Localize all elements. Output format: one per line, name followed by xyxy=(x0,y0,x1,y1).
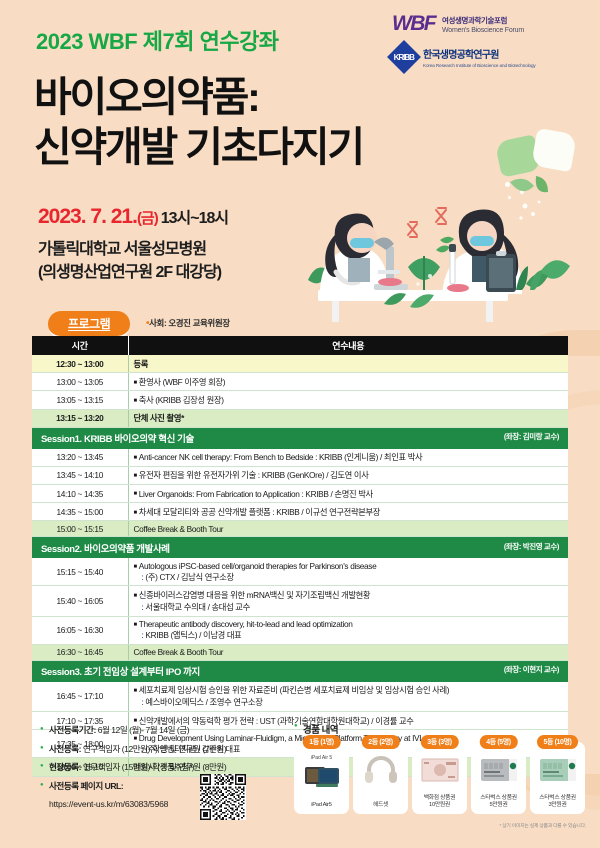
schedule-time: 13:20 ~ 13:45 xyxy=(32,449,128,467)
kribb-diamond-icon: KRIBB xyxy=(387,40,421,74)
column-header-content: 연수내용 xyxy=(128,336,568,355)
prize-rank-badge: 1등 (1명) xyxy=(302,735,340,749)
bullet-square-icon: ■ xyxy=(134,622,137,628)
program-badge-label: 프로그램 xyxy=(68,317,110,331)
schedule-title: 차세대 모달리티와 공공 신약개발 플랫폼 : KRIBB / 이규선 연구전략… xyxy=(139,507,380,517)
schedule-title: 축사 (KRIBB 김장성 원장) xyxy=(139,395,224,405)
bullet-square-icon: ■ xyxy=(134,593,137,599)
schedule-content: ■차세대 모달리티와 공공 신약개발 플랫폼 : KRIBB / 이규선 연구전… xyxy=(128,503,568,521)
bullet-square-icon: ■ xyxy=(134,510,137,516)
schedule-time: 13:15 ~ 13:20 xyxy=(32,409,128,427)
prize-top-note: iPad Air 5 xyxy=(311,755,332,761)
table-row: 15:00 ~ 15:15Coffee Break & Booth Tour xyxy=(32,521,568,537)
wbf-wordmark-icon: WBF xyxy=(392,12,435,36)
kribb-logo: KRIBB 한국생명공학연구원 Korea Research Institute… xyxy=(392,45,582,69)
schedule-content: ■세포치료제 임상시험 승인을 위한 자료준비 (파킨슨병 세포치료제 비임상 … xyxy=(128,682,568,712)
prize-card: 2등 (2명)헤드셋 xyxy=(353,742,408,814)
registration-info: 사전등록기간: 6월 12일 (월)- 7월 14일 (금) 사전등록: 연구책… xyxy=(40,725,290,809)
schedule-time: 13:00 ~ 13:05 xyxy=(32,373,128,391)
schedule-content: ■유전자 편집을 위한 유전자가위 기술 : KRIBB (GenKOre) /… xyxy=(128,466,568,484)
bullet-square-icon: ■ xyxy=(134,491,137,497)
poster-root: 2023 WBF 제7회 연수강좌 바이오의약품: 신약개발 기초다지기 WBF… xyxy=(0,0,600,848)
table-row: 16:30 ~ 16:45Coffee Break & Booth Tour xyxy=(32,644,568,660)
schedule-content: ■Therapeutic antibody discovery, hit-to-… xyxy=(128,616,568,644)
schedule-content: ■환영사 (WBF 이주영 회장) xyxy=(128,373,568,391)
session-title: Session3. 초기 전임상 설계부터 IPO 까지 xyxy=(41,667,200,678)
giftcard-icon xyxy=(538,755,578,785)
prize-list: 1등 (1명)iPad Air 5iPad Air52등 (2명)헤드셋3등 (… xyxy=(294,742,585,814)
table-header-row: 시간 연수내용 xyxy=(32,336,568,355)
kribb-mark: KRIBB xyxy=(394,53,414,62)
program-badge: 프로그램 xyxy=(48,311,130,338)
event-date-time: 2023. 7. 21.(금)13시~18시 xyxy=(38,204,228,229)
schedule-content: ■Liver Organoids: From Fabrication to Ap… xyxy=(128,484,568,502)
wbf-name-en: Women's Bioscience Forum xyxy=(442,27,524,34)
schedule-time: 13:05 ~ 13:15 xyxy=(32,391,128,409)
schedule-time: 16:30 ~ 16:45 xyxy=(32,644,128,660)
schedule-title: Liver Organoids: From Fabrication to App… xyxy=(139,489,373,499)
schedule-time: 15:00 ~ 15:15 xyxy=(32,521,128,537)
schedule-title: Coffee Break & Booth Tour xyxy=(134,524,224,534)
schedule-title: Autologous iPSC-based cell/organoid ther… xyxy=(139,561,377,571)
wbf-name-ko: 여성생명과학기술포럼 xyxy=(442,15,524,26)
session-header-cell: (좌장: 이현지 교수)Session3. 초기 전임상 설계부터 IPO 까지 xyxy=(32,661,568,682)
schedule-content: ■Autologous iPSC-based cell/organoid the… xyxy=(128,558,568,586)
table-row: 13:15 ~ 13:20단체 사진 촬영* xyxy=(32,409,568,427)
bullet-square-icon: ■ xyxy=(134,380,137,386)
reg-label-0: 사전등록기간: xyxy=(49,725,96,735)
table-row: 13:45 ~ 14:10■유전자 편집을 위한 유전자가위 기술 : KRIB… xyxy=(32,466,568,484)
logo-group: WBF 여성생명과학기술포럼 Women's Bioscience Forum … xyxy=(392,12,582,69)
schedule-title: 세포치료제 임상시험 승인을 위한 자료준비 (파킨슨병 세포치료제 비임상 및… xyxy=(139,685,449,695)
table-row: 16:45 ~ 17:10■세포치료제 임상시험 승인을 위한 자료준비 (파킨… xyxy=(32,682,568,712)
bullet-square-icon: ■ xyxy=(134,564,137,570)
kribb-name-en: Korea Research Institute of Bioscience a… xyxy=(423,63,536,68)
voucher-icon xyxy=(420,755,460,785)
table-row: 13:20 ~ 13:45■Anti-cancer NK cell therap… xyxy=(32,449,568,467)
prize-card: 1등 (1명)iPad Air 5iPad Air5 xyxy=(294,742,349,814)
moderator-label: 사회: 오경진 교육위원장 xyxy=(149,318,230,328)
schedule-time: 16:45 ~ 17:10 xyxy=(32,682,128,712)
schedule-title: 신종바이러스감염병 대응을 위한 mRNA백신 및 자기조립백신 개발현황 xyxy=(139,590,370,600)
schedule-time: 12:30 ~ 13:00 xyxy=(32,355,128,373)
schedule-subtitle: : 서울대학교 수의대 / 송대섭 교수 xyxy=(142,601,564,613)
schedule-content: ■Anti-cancer NK cell therapy: From Bench… xyxy=(128,449,568,467)
schedule-content: ■신종바이러스감염병 대응을 위한 mRNA백신 및 자기조립백신 개발현황: … xyxy=(128,586,568,616)
prize-rank-badge: 4등 (5명) xyxy=(479,735,517,749)
bullet-square-icon: ■ xyxy=(134,688,137,694)
prize-rank-badge: 5등 (10명) xyxy=(537,735,579,749)
prize-label: 스타벅스 상품권 3만원권 xyxy=(539,795,576,810)
table-row: 14:35 ~ 15:00■차세대 모달리티와 공공 신약개발 플랫폼 : KR… xyxy=(32,503,568,521)
schedule-title: Therapeutic antibody discovery, hit-to-l… xyxy=(139,619,353,629)
table-row: 13:00 ~ 13:05■환영사 (WBF 이주영 회장) xyxy=(32,373,568,391)
event-time: 13시~18시 xyxy=(161,210,228,227)
event-kicker: 2023 WBF 제7회 연수강좌 xyxy=(36,24,279,56)
bullet-square-icon: ■ xyxy=(134,455,137,461)
schedule-time: 15:15 ~ 15:40 xyxy=(32,558,128,586)
schedule-content: 등록 xyxy=(128,355,568,373)
prize-card: 4등 (5명)스타벅스 상품권 5만원권 xyxy=(471,742,526,814)
schedule-content: 단체 사진 촬영* xyxy=(128,409,568,427)
schedule-content: Coffee Break & Booth Tour xyxy=(128,521,568,537)
bullet-square-icon: ■ xyxy=(134,718,137,724)
program-table: 시간 연수내용 12:30 ~ 13:00등록13:00 ~ 13:05■환영사… xyxy=(32,336,568,777)
list-item: 사전등록 페이지 URL: xyxy=(40,781,290,793)
schedule-title: 등록 xyxy=(134,359,149,369)
schedule-time: 16:05 ~ 16:30 xyxy=(32,616,128,644)
session-header-cell: (좌장: 김미랑 교수)Session1. KRIBB 바이오의약 혁신 기술 xyxy=(32,427,568,448)
session-header-row: (좌장: 박진영 교수)Session2. 바이오의약품 개발사례 xyxy=(32,537,568,558)
list-item: 사전등록: 연구책임자 (12만원)-학생 및 연구원 (7만원) xyxy=(40,744,290,756)
schedule-time: 13:45 ~ 14:10 xyxy=(32,466,128,484)
list-item: 현장등록: 연구책임자 (15만원)-학생 및 연구원 (8만원) xyxy=(40,762,290,774)
prize-label: iPad Air5 xyxy=(311,802,332,810)
table-row: 12:30 ~ 13:00등록 xyxy=(32,355,568,373)
schedule-title: 단체 사진 촬영* xyxy=(134,413,185,423)
bullet-square-icon: ■ xyxy=(134,398,137,404)
reg-label-1: 사전등록: xyxy=(49,744,81,754)
reg-value-0: 6월 12일 (월)- 7월 14일 (금) xyxy=(96,725,189,735)
schedule-title: 유전자 편집을 위한 유전자가위 기술 : KRIBB (GenKOre) / … xyxy=(139,470,369,480)
prize-rank-badge: 3등 (3명) xyxy=(420,735,458,749)
schedule-title: Anti-cancer NK cell therapy: From Bench … xyxy=(139,452,423,462)
bullet-square-icon: ■ xyxy=(134,473,137,479)
reg-url-label: 사전등록 페이지 URL: xyxy=(49,781,123,791)
session-title: Session1. KRIBB 바이오의약 혁신 기술 xyxy=(41,434,194,445)
session-chair: (좌장: 박진영 교수) xyxy=(504,541,559,552)
kribb-name-ko: 한국생명공학연구원 xyxy=(423,46,536,61)
column-header-time: 시간 xyxy=(32,336,128,355)
moderator-note: •사회: 오경진 교육위원장 xyxy=(146,317,230,329)
reg-value-1: 연구책임자 (12만원)-학생 및 연구원 (7만원) xyxy=(81,744,226,754)
schedule-subtitle: : KRIBB (앱틱스) / 이남경 대표 xyxy=(142,629,564,641)
scientists-illustration xyxy=(290,172,590,322)
schedule-time: 14:10 ~ 14:35 xyxy=(32,484,128,502)
table-row: 14:10 ~ 14:35■Liver Organoids: From Fabr… xyxy=(32,484,568,502)
headphones-icon xyxy=(361,755,401,785)
event-date: 2023. 7. 21. xyxy=(38,205,137,228)
program-table-body: 12:30 ~ 13:00등록13:00 ~ 13:05■환영사 (WBF 이주… xyxy=(32,355,568,776)
prize-label: 스타벅스 상품권 5만원권 xyxy=(480,795,517,810)
qr-code-icon[interactable] xyxy=(200,774,246,820)
session-chair: (좌장: 김미랑 교수) xyxy=(504,431,559,442)
session-header-cell: (좌장: 박진영 교수)Session2. 바이오의약품 개발사례 xyxy=(32,537,568,558)
schedule-subtitle: : (주) CTX / 김남식 연구소장 xyxy=(142,571,564,583)
reg-label-2: 현장등록: xyxy=(49,762,81,772)
event-day: (금) xyxy=(137,210,158,227)
event-venue: 가톨릭대학교 서울성모병원 (의생명산업연구원 2F 대강당) xyxy=(38,238,221,284)
session-header-row: (좌장: 이현지 교수)Session3. 초기 전임상 설계부터 IPO 까지 xyxy=(32,661,568,682)
schedule-time: 14:35 ~ 15:00 xyxy=(32,503,128,521)
session-chair: (좌장: 이현지 교수) xyxy=(504,664,559,675)
wbf-logo: WBF 여성생명과학기술포럼 Women's Bioscience Forum xyxy=(392,12,582,36)
prize-card: 5등 (10명)스타벅스 상품권 3만원권 xyxy=(530,742,585,814)
table-row: 16:05 ~ 16:30■Therapeutic antibody disco… xyxy=(32,616,568,644)
table-row: 15:15 ~ 15:40■Autologous iPSC-based cell… xyxy=(32,558,568,586)
registration-url[interactable]: https://event-us.kr/m/63083/5968 xyxy=(49,799,290,809)
session-header-row: (좌장: 김미랑 교수)Session1. KRIBB 바이오의약 혁신 기술 xyxy=(32,427,568,448)
prize-label: 백화점 상품권 10만원권 xyxy=(424,795,456,810)
schedule-time: 15:40 ~ 16:05 xyxy=(32,586,128,616)
session-title: Session2. 바이오의약품 개발사례 xyxy=(41,544,170,555)
prize-rank-badge: 2등 (2명) xyxy=(361,735,399,749)
schedule-content: Coffee Break & Booth Tour xyxy=(128,644,568,660)
prize-heading: 경품 내역 xyxy=(294,722,338,736)
schedule-title: Coffee Break & Booth Tour xyxy=(134,647,224,657)
list-item: 사전등록기간: 6월 12일 (월)- 7월 14일 (금) xyxy=(40,725,290,737)
schedule-subtitle: : 예스바이오메딕스 / 조영수 연구소장 xyxy=(142,696,564,708)
prize-label: 헤드셋 xyxy=(373,802,388,810)
reg-value-2: 연구책임자 (15만원)-학생 및 연구원 (8만원) xyxy=(81,762,226,772)
table-row: 13:05 ~ 13:15■축사 (KRIBB 김장성 원장) xyxy=(32,391,568,409)
prize-footnote: * 상기 이미지는 실제 상품과 다를 수 있습니다. xyxy=(499,822,586,829)
schedule-content: ■축사 (KRIBB 김장성 원장) xyxy=(128,391,568,409)
table-row: 15:40 ~ 16:05■신종바이러스감염병 대응을 위한 mRNA백신 및 … xyxy=(32,586,568,616)
schedule-title: 환영사 (WBF 이주영 회장) xyxy=(139,377,225,387)
prize-card: 3등 (3명)백화점 상품권 10만원권 xyxy=(412,742,467,814)
page-title: 바이오의약품: 신약개발 기초다지기 xyxy=(34,72,363,172)
giftcard-icon xyxy=(479,755,519,785)
tablet-icon xyxy=(302,762,342,792)
